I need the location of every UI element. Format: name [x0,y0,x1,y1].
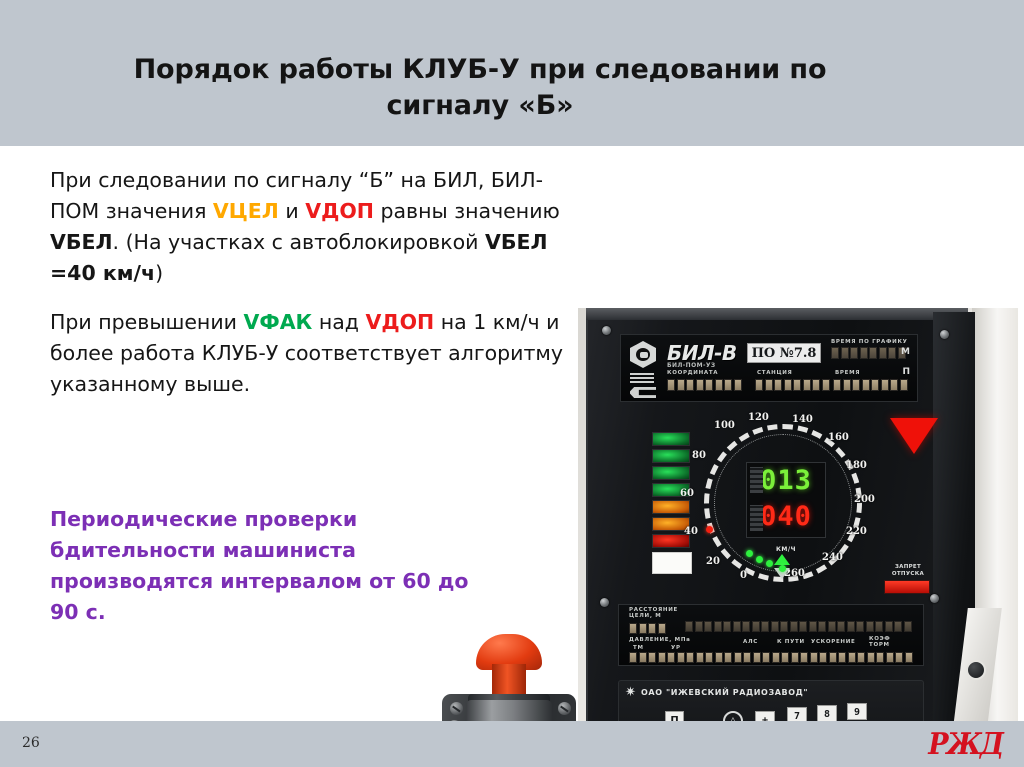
key-8[interactable]: 8 [817,705,837,722]
tick-100: 100 [714,420,735,431]
segments-time-schedule [831,347,906,359]
led-green-3 [652,466,690,480]
label-station: СТАНЦИЯ [757,370,793,376]
segments-time [833,379,908,391]
led-white-block [652,552,692,574]
speed-readout-panel: 013 040 [746,462,826,538]
indicator-m: М [901,347,910,357]
slide-footer: 26 РЖД [0,721,1024,767]
tick-160: 160 [828,432,849,443]
emblem-secondary-icon [630,387,656,398]
tick-200: 200 [854,494,875,505]
label-time: ВРЕМЯ [835,370,860,376]
segments-bottom-row [629,652,913,663]
segments-coordinate [667,379,742,391]
label-zapret-otpuska: ЗАПРЕТ ОТПУСКА [884,564,932,578]
rb-stem [492,664,526,696]
quality-mark-icon [630,341,656,368]
arrow-up-icon [774,554,790,565]
p1-text-5: ) [155,261,163,285]
slide-number: 26 [22,735,40,751]
led-bargraph [652,432,690,574]
cabinet-screw-tl [602,326,611,335]
dial-green-marker-3 [766,560,773,567]
klub-u-device-photo: БИЛ-В БИЛ-ПОМ-УЗ ПО №7.8 ВРЕМЯ ПО ГРАФИК… [578,308,1018,767]
p1-text-3: равны значению [374,199,560,223]
slide-header: Порядок работы КЛУБ-У при следовании по … [0,0,1024,146]
led-orange-1 [652,500,690,514]
label-target-distance: РАССТОЯНИЕ ЦЕЛИ, М [629,607,681,619]
dial-unit-label: КМ/Ч [776,546,796,553]
dial-green-marker-2 [756,556,763,563]
rzd-logo: РЖД [928,727,1002,762]
tick-240: 240 [822,552,843,563]
label-ur: УР [671,645,681,651]
p2-text-1: При превышении [50,310,244,334]
tick-220: 220 [846,526,867,537]
bracket-knob [966,660,986,680]
paragraph-one: При следовании по сигналу “Б” на БИЛ, БИ… [50,165,570,289]
red-triangle-warning-icon [890,418,938,454]
software-version-box: ПО №7.8 [747,343,821,363]
label-time-schedule: ВРЕМЯ ПО ГРАФИКУ [831,339,908,345]
label-pressure: ДАВЛЕНИЕ, МПа [629,637,691,643]
readout-grid-left-bottom [750,505,763,531]
label-uskorenie: УСКОРЕНИЕ [811,639,856,645]
label-k-puti: К ПУТИ [777,639,805,645]
emblem-bars-icon [630,373,654,384]
rb-screw-tr [558,702,571,715]
speedometer-dial: 120 140 160 180 200 220 240 260 100 80 6… [688,416,880,591]
segments-top-row [685,621,912,632]
tick-120: 120 [748,412,769,423]
tick-0: 0 [740,570,747,581]
label-koef-torm: КОЭФ ТОРМ [869,636,903,648]
paragraph-vigilance-note: Периодические проверки бдительности маши… [50,504,470,628]
term-vdop-2: VДОП [366,310,435,334]
p2-text-2: над [312,310,365,334]
dial-center-green-dot [779,565,786,572]
readout-grid-left-top [750,467,763,493]
display-brand-sub: БИЛ-ПОМ-УЗ [667,362,716,369]
tick-140: 140 [792,414,813,425]
p1-text-2: и [279,199,305,223]
label-tm: ТМ [633,645,644,651]
bottom-display-panel: РАССТОЯНИЕ ЦЕЛИ, М ДАВЛЕНИЕ, МПа ТМ УР А… [618,604,924,666]
slide-body: При следовании по сигналу “Б” на БИЛ, БИ… [0,146,1024,721]
label-als: АЛС [743,639,758,645]
p1-text-4: . (На участках с автоблокировкой [113,230,485,254]
tick-40: 40 [684,526,698,537]
manufacturer-label: ОАО "ИЖЕВСКИЙ РАДИОЗАВОД" [641,688,808,697]
top-display-panel: БИЛ-В БИЛ-ПОМ-УЗ ПО №7.8 ВРЕМЯ ПО ГРАФИК… [620,334,918,402]
dial-green-marker-1 [746,550,753,557]
cabinet-top-edge [586,308,968,320]
term-vfak: VФАК [244,310,313,334]
paragraph-two: При превышении VФАК над VДОП на 1 км/ч и… [50,307,570,400]
term-vdop-1: VДОП [305,199,374,223]
tick-180: 180 [846,460,867,471]
label-coordinate: КООРДИНАТА [667,370,718,376]
key-9[interactable]: 9 [847,703,867,720]
indicator-p: П [902,367,910,377]
led-green-1 [652,432,690,446]
rb-screw-tl [450,702,463,715]
term-vbel: VБЕЛ [50,230,113,254]
tick-80: 80 [692,450,706,461]
manufacturer-star-icon: ✷ [625,686,638,699]
dial-red-marker [706,526,713,533]
cabinet-screw-mr [930,594,939,603]
segments-station [755,379,830,391]
zapret-otpuska-indicator [884,580,930,594]
term-vcel: VЦЕЛ [213,199,279,223]
led-green-2 [652,449,690,463]
cabinet-screw-tr [940,330,949,339]
cabinet-screw-ml [600,598,609,607]
tick-20: 20 [706,556,720,567]
tick-60: 60 [680,488,694,499]
segments-target-distance [629,623,666,634]
page-title: Порядок работы КЛУБ-У при следовании по … [130,52,830,124]
